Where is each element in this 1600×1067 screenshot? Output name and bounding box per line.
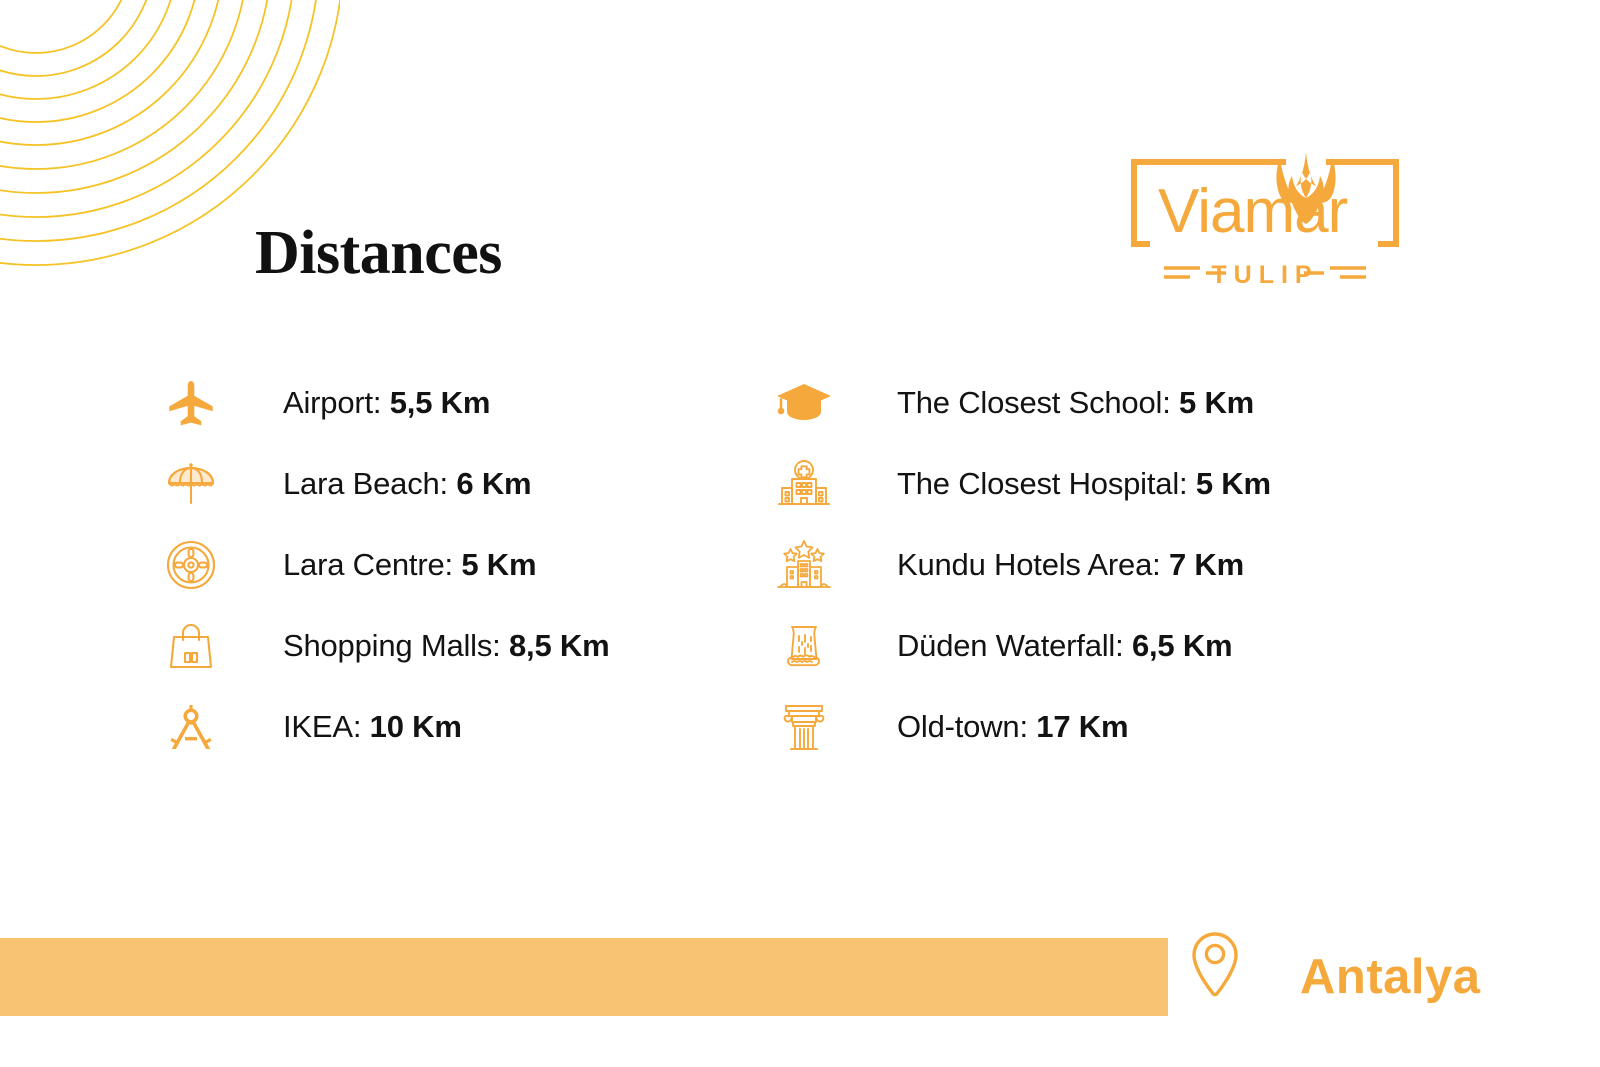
list-item: IKEA: 10 Km bbox=[155, 686, 609, 767]
list-item: Old-town: 17 Km bbox=[768, 686, 1271, 767]
waterfall-icon bbox=[768, 614, 840, 678]
list-item-label: Lara Centre: bbox=[283, 547, 461, 582]
list-item: Kundu Hotels Area: 7 Km bbox=[768, 524, 1271, 605]
list-item: Airport: 5,5 Km bbox=[155, 362, 609, 443]
footer-city-label: Antalya bbox=[1300, 938, 1481, 1016]
list-item-label: Airport: bbox=[283, 385, 390, 420]
list-item-value: 5 Km bbox=[1179, 385, 1254, 420]
hospital-icon bbox=[768, 452, 840, 516]
list-item: Shopping Malls: 8,5 Km bbox=[155, 605, 609, 686]
shopping-bag-icon bbox=[155, 614, 227, 678]
list-item-value: 10 Km bbox=[370, 709, 462, 744]
list-item-value: 5 Km bbox=[1196, 466, 1271, 501]
list-item-label: The Closest Hospital: bbox=[897, 466, 1196, 501]
list-item-text: The Closest School: 5 Km bbox=[897, 385, 1254, 421]
logo-wordmark: Viamar bbox=[1158, 177, 1348, 246]
list-item-value: 6,5 Km bbox=[1132, 628, 1232, 663]
list-item-text: Kundu Hotels Area: 7 Km bbox=[897, 547, 1244, 583]
logo-subtitle: TULIP bbox=[1211, 261, 1318, 289]
list-item-text: Düden Waterfall: 6,5 Km bbox=[897, 628, 1232, 664]
list-item: The Closest Hospital: 5 Km bbox=[768, 443, 1271, 524]
airplane-icon bbox=[155, 371, 227, 435]
page-title: Distances bbox=[255, 222, 502, 284]
list-item-label: Düden Waterfall: bbox=[897, 628, 1132, 663]
list-item-value: 6 Km bbox=[456, 466, 531, 501]
list-item-text: Airport: 5,5 Km bbox=[283, 385, 490, 421]
distances-right-column: The Closest School: 5 Km bbox=[768, 362, 1271, 767]
list-item-text: IKEA: 10 Km bbox=[283, 709, 462, 745]
graduation-cap-icon bbox=[768, 371, 840, 435]
slide-root: Viamar TULIP Distances Airport: bbox=[0, 0, 1600, 1067]
drafting-compass-icon bbox=[155, 695, 227, 759]
list-item-text: Lara Beach: 6 Km bbox=[283, 466, 531, 502]
list-item-label: Shopping Malls: bbox=[283, 628, 509, 663]
list-item-value: 8,5 Km bbox=[509, 628, 609, 663]
list-item-label: Kundu Hotels Area: bbox=[897, 547, 1169, 582]
beach-umbrella-icon bbox=[155, 452, 227, 516]
list-item-label: Lara Beach: bbox=[283, 466, 456, 501]
list-item-value: 17 Km bbox=[1036, 709, 1128, 744]
list-item-text: The Closest Hospital: 5 Km bbox=[897, 466, 1271, 502]
column-icon bbox=[768, 695, 840, 759]
list-item-text: Shopping Malls: 8,5 Km bbox=[283, 628, 609, 664]
list-item-text: Lara Centre: 5 Km bbox=[283, 547, 536, 583]
list-item-text: Old-town: 17 Km bbox=[897, 709, 1128, 745]
distances-left-column: Airport: 5,5 Km Lara Beach: 6 Km bbox=[155, 362, 609, 767]
list-item-value: 7 Km bbox=[1169, 547, 1244, 582]
list-item-value: 5 Km bbox=[461, 547, 536, 582]
list-item-label: Old-town: bbox=[897, 709, 1036, 744]
footer-accent-bar bbox=[0, 938, 1168, 1016]
list-item-value: 5,5 Km bbox=[390, 385, 490, 420]
list-item: Lara Beach: 6 Km bbox=[155, 443, 609, 524]
list-item-label: The Closest School: bbox=[897, 385, 1179, 420]
brand-logo: Viamar TULIP bbox=[1120, 128, 1410, 296]
list-item-label: IKEA: bbox=[283, 709, 370, 744]
hotel-stars-icon bbox=[768, 533, 840, 597]
list-item: The Closest School: 5 Km bbox=[768, 362, 1271, 443]
compass-target-icon bbox=[155, 533, 227, 597]
location-pin-icon bbox=[1185, 928, 1245, 1010]
list-item: Lara Centre: 5 Km bbox=[155, 524, 609, 605]
list-item: Düden Waterfall: 6,5 Km bbox=[768, 605, 1271, 686]
